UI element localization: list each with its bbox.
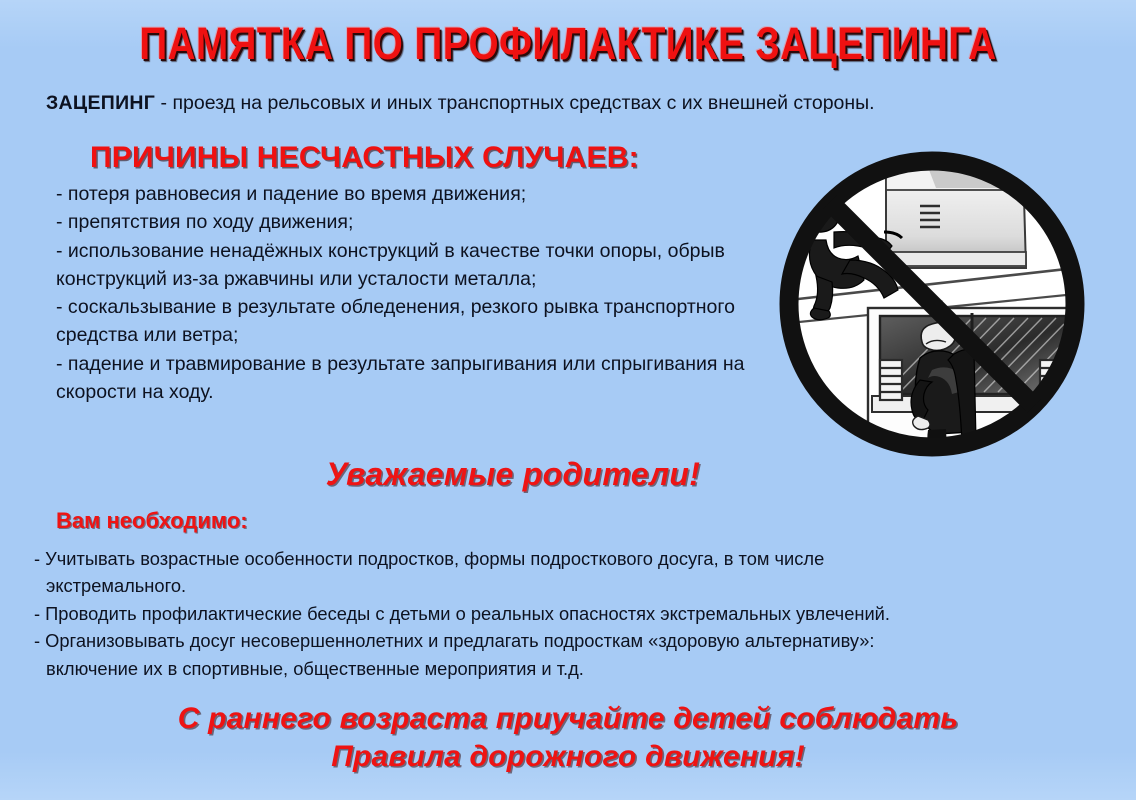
cause-item: - потеря равновесия и падение во время д… — [56, 180, 756, 208]
cause-item: - падение и травмирование в результате з… — [56, 350, 756, 407]
must-item: - Учитывать возрастные особенности подро… — [34, 545, 1114, 600]
must-item-line: - Организовывать досуг несовершеннолетни… — [34, 627, 1114, 654]
causes-list: - потеря равновесия и падение во время д… — [56, 180, 756, 406]
must-item-line: включение их в спортивные, общественные … — [34, 655, 1114, 682]
cause-item: - соскальзывание в результате обледенени… — [56, 293, 756, 350]
definition-line: ЗАЦЕПИНГ - проезд на рельсовых и иных тр… — [46, 92, 1116, 115]
cause-item: - препятствия по ходу движения; — [56, 208, 756, 236]
parents-callout: Уважаемые родители! — [0, 456, 1136, 493]
cause-item: - использование ненадёжных конструкций в… — [56, 237, 756, 294]
definition-term: ЗАЦЕПИНГ — [46, 92, 155, 114]
poster-canvas: ПАМЯТКА ПО ПРОФИЛАКТИКЕ ЗАЦЕПИНГА ЗАЦЕПИ… — [0, 0, 1136, 800]
footer-slogan: С раннего возраста приучайте детей соблю… — [0, 700, 1136, 776]
must-item: - Проводить профилактические беседы с де… — [34, 600, 1114, 627]
footer-line: Правила дорожного движения! — [0, 738, 1136, 776]
definition-dash: - — [155, 92, 172, 114]
must-item-line: - Учитывать возрастные особенности подро… — [34, 545, 1114, 572]
page-title: ПАМЯТКА ПО ПРОФИЛАКТИКЕ ЗАЦЕПИНГА — [80, 18, 1057, 70]
must-item-line: экстремального. — [34, 572, 1114, 599]
definition-text: проезд на рельсовых и иных транспортных … — [172, 92, 874, 114]
causes-heading: ПРИЧИНЫ НЕСЧАСТНЫХ СЛУЧАЕВ: — [90, 141, 639, 175]
no-train-surfing-prohibition-sign — [776, 148, 1088, 460]
must-heading: Вам необходимо: — [56, 508, 248, 534]
footer-line: С раннего возраста приучайте детей соблю… — [0, 700, 1136, 738]
must-item: - Организовывать досуг несовершеннолетни… — [34, 627, 1114, 682]
must-list: - Учитывать возрастные особенности подро… — [34, 545, 1114, 682]
must-item-line: - Проводить профилактические беседы с де… — [34, 600, 1114, 627]
